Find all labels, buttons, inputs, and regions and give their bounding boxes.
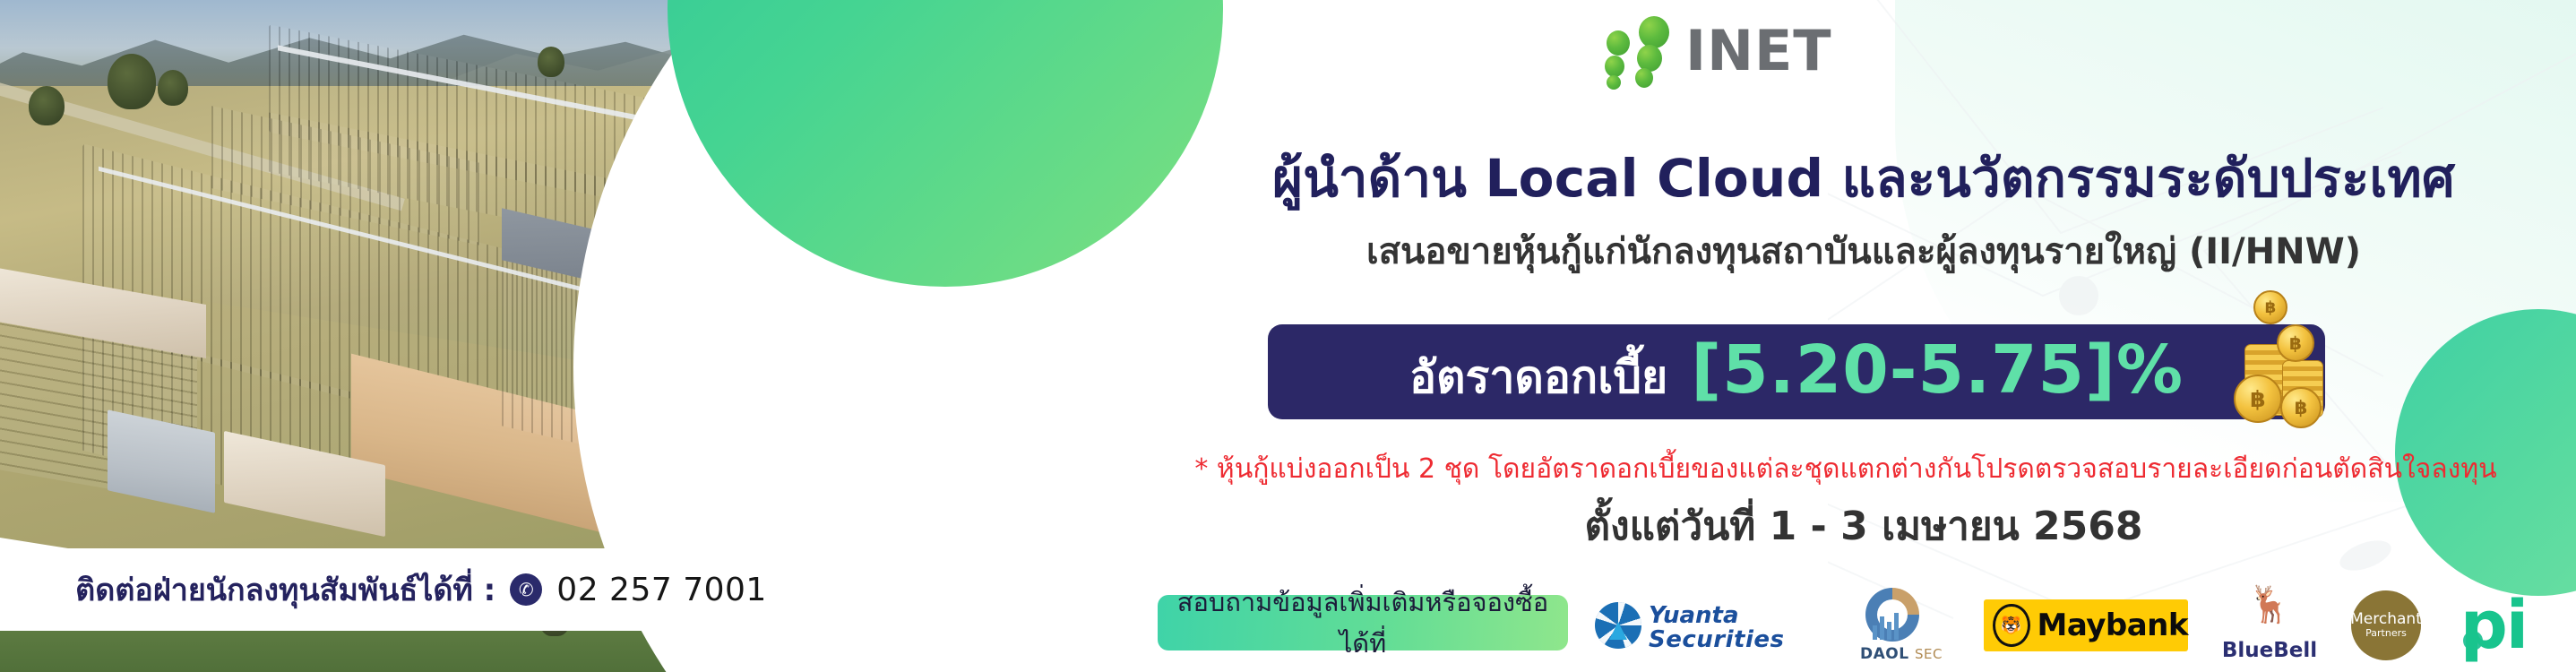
yuanta-line2: Securities	[1649, 628, 1784, 652]
yuanta-mark-icon	[1595, 602, 1641, 649]
daol-line2: SEC	[1915, 646, 1943, 662]
broker-logo-maybank[interactable]: 🐯 Maybank	[1984, 599, 2188, 651]
broker-logo-merchant-partners[interactable]: Merchant Partners	[2351, 590, 2421, 660]
broker-logo-pi[interactable]: pi	[2444, 590, 2543, 661]
inet-logo: INET	[1599, 13, 1868, 90]
inet-promo-banner: INET ผู้นำด้าน Local Cloud และนวัตกรรมระ…	[0, 0, 2576, 672]
interest-rate-value: [5.20-5.75]%	[1691, 332, 2184, 409]
bluebell-wordmark: BlueBell	[2211, 639, 2328, 662]
contact-phone-number[interactable]: 02 257 7001	[556, 572, 767, 608]
phone-icon: ✆	[510, 573, 542, 606]
contact-label: ติดต่อฝ่ายนักลงทุนสัมพันธ์ได้ที่ :	[75, 565, 495, 614]
broker-logo-bluebell[interactable]: 🦌 BlueBell	[2211, 587, 2328, 664]
inquiry-cta-button[interactable]: สอบถามข้อมูลเพิ่มเติมหรือจองซื้อได้ที่	[1158, 595, 1568, 650]
daol-mark-icon	[1865, 588, 1928, 642]
interest-rate-label: อัตราดอกเบี้ย	[1409, 342, 1667, 413]
investor-relations-contact: ติดต่อฝ่ายนักลงทุนสัมพันธ์ได้ที่ : ✆ 02 …	[0, 548, 878, 631]
gold-coins-icon: ฿ ฿ ฿ ฿	[2214, 294, 2332, 430]
maybank-wordmark: Maybank	[2038, 607, 2189, 643]
merchant-line1: Merchant	[2350, 612, 2422, 628]
maybank-tiger-icon: 🐯	[1993, 604, 2030, 647]
bluebell-deer-icon: 🦌	[2211, 587, 2328, 623]
interest-rate-box: อัตราดอกเบี้ย [5.20-5.75]% ฿ ฿ ฿ ฿	[1268, 324, 2325, 419]
subheadline: เสนอขายหุ้นกู้แก่นักลงทุนสถาบันและผู้ลงท…	[1201, 222, 2527, 280]
disclaimer-text: * หุ้นกู้แบ่งออกเป็น 2 ชุด โดยอัตราดอกเบ…	[1120, 448, 2572, 490]
headline: ผู้นำด้าน Local Cloud และนวัตกรรมระดับปร…	[1201, 136, 2527, 220]
broker-logo-yuanta[interactable]: Yuanta Securities	[1595, 593, 1819, 658]
inet-dots-icon	[1599, 13, 1685, 90]
offer-date-range: ตั้งแต่วันที่ 1 - 3 เมษายน 2568	[1201, 495, 2527, 557]
inet-wordmark: INET	[1685, 23, 1832, 79]
yuanta-line1: Yuanta	[1649, 604, 1784, 628]
broker-logo-row: Yuanta Securities DAOL SEC 🐯 Maybank 🦌 B…	[1595, 584, 2563, 667]
broker-logo-daol-sec[interactable]: DAOL SEC	[1842, 588, 1960, 663]
merchant-line2: Partners	[2365, 627, 2407, 639]
daol-line1: DAOL	[1860, 645, 1909, 663]
